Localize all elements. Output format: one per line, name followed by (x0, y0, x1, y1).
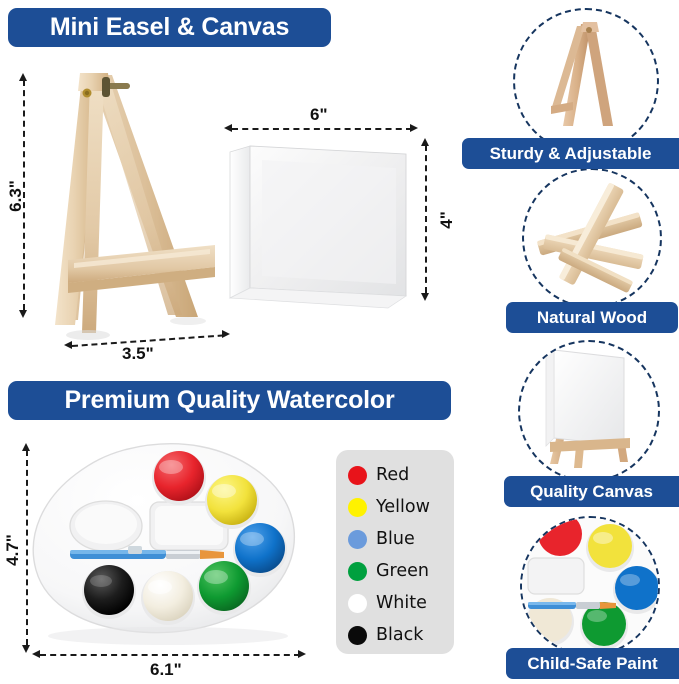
dimension-label-easel-width: 3.5" (122, 344, 154, 364)
legend-item-blue: Blue (348, 523, 454, 555)
arrow-up-palette-height (22, 443, 30, 451)
legend-label-blue: Blue (376, 529, 415, 549)
dimension-label-palette-height: 4.7" (3, 525, 23, 575)
legend-item-red: Red (348, 459, 454, 491)
legend-label-green: Green (376, 561, 429, 581)
dimension-line-palette-width (40, 654, 300, 656)
section-banner-easel: Mini Easel & Canvas (8, 8, 331, 47)
feature-banner-child-safe-paint: Child-Safe Paint (506, 648, 679, 679)
dimension-label-canvas-height: 4" (437, 200, 457, 240)
arrow-right-canvas-width (410, 124, 418, 132)
color-swatch-red (348, 466, 367, 485)
feature-circle-natural-wood (522, 168, 662, 308)
feature-banner-sturdy-adjustable: Sturdy & Adjustable (462, 138, 679, 169)
arrow-left-easel-width (64, 341, 72, 349)
arrow-right-easel-width (222, 330, 230, 338)
infographic-root: Mini Easel & Canvas (0, 0, 679, 684)
legend-item-yellow: Yellow (348, 491, 454, 523)
easel-svg (30, 55, 230, 345)
folded-easel-icon (515, 10, 657, 152)
legend-item-white: White (348, 587, 454, 619)
arrow-up-easel-height (19, 73, 27, 81)
canvas-illustration (228, 138, 418, 310)
arrow-down-palette-height (22, 645, 30, 653)
color-swatch-white (348, 594, 367, 613)
canvas-svg (228, 138, 418, 310)
legend-label-yellow: Yellow (376, 497, 430, 517)
color-swatch-blue (348, 530, 367, 549)
arrow-down-easel-height (19, 310, 27, 318)
feature-circle-sturdy-adjustable (513, 8, 659, 154)
easel-illustration (30, 55, 230, 345)
dimension-line-palette-height (26, 450, 28, 645)
legend-item-green: Green (348, 555, 454, 587)
arrow-left-canvas-width (224, 124, 232, 132)
legend-label-red: Red (376, 465, 409, 485)
dimension-label-canvas-width: 6" (310, 105, 328, 125)
feature-banner-quality-canvas: Quality Canvas (504, 476, 679, 507)
color-swatch-black (348, 626, 367, 645)
legend-label-black: Black (376, 625, 423, 645)
feature-circle-child-safe-paint (520, 516, 660, 656)
palette-svg (28, 440, 308, 655)
legend-label-white: White (376, 593, 427, 613)
feature-circle-quality-canvas (518, 340, 660, 482)
dimension-line-canvas-height (425, 145, 427, 293)
arrow-up-canvas-height (421, 138, 429, 146)
dimension-line-canvas-width (232, 128, 412, 130)
arrow-down-canvas-height (421, 293, 429, 301)
section-banner-watercolor: Premium Quality Watercolor (8, 381, 451, 420)
color-swatch-yellow (348, 498, 367, 517)
wood-sticks-icon (524, 170, 660, 306)
dimension-label-palette-width: 6.1" (150, 660, 182, 680)
legend-item-black: Black (348, 619, 454, 651)
paint-palette-icon (522, 518, 658, 654)
feature-banner-natural-wood: Natural Wood (506, 302, 678, 333)
canvas-on-easel-icon (520, 342, 658, 480)
dimension-label-easel-height: 6.3" (6, 166, 26, 226)
palette-illustration (28, 440, 308, 655)
color-legend: Red Yellow Blue Green White Black (336, 450, 454, 654)
arrow-right-palette-width (298, 650, 306, 658)
color-swatch-green (348, 562, 367, 581)
arrow-left-palette-width (32, 650, 40, 658)
